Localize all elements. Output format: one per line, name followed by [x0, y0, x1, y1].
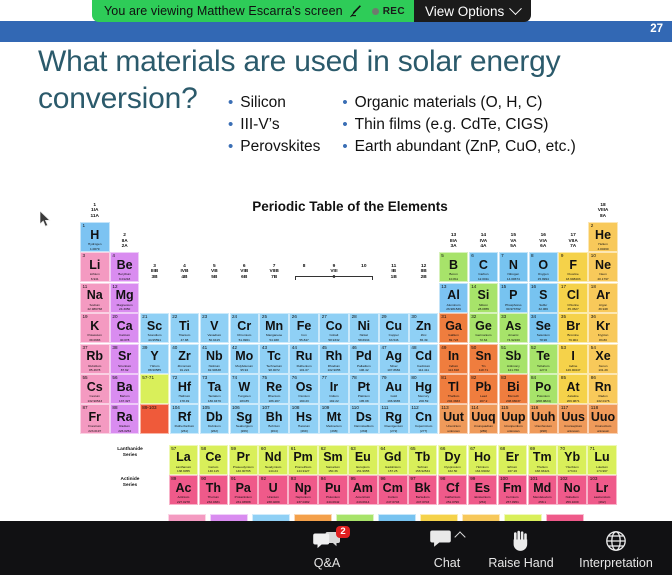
element-mass: 24.3050 [111, 307, 139, 311]
element-mass: 78.96 [530, 338, 558, 342]
element-mass: 39.948 [589, 307, 617, 311]
element-cell: 59PrPraseodymium140.90765 [229, 445, 259, 475]
element-symbol: Fe [290, 320, 318, 333]
element-cell: 20CaCalcium40.078 [110, 313, 140, 343]
element-name: Neon [589, 272, 617, 276]
element-symbol: Br [559, 320, 587, 333]
periodic-table-title: Periodic Table of the Elements [80, 199, 620, 214]
element-cell: 32GeGermanium72.64 [469, 313, 499, 343]
screen-share-banner: You are viewing Matthew Escarra's screen… [92, 0, 531, 22]
bullet-item: •Organic materials (O, H, C) [342, 94, 575, 112]
element-symbol: Cf [439, 482, 467, 495]
element-symbol: Si [470, 289, 498, 302]
element-cell: 76OsOsmium190.23 [289, 374, 319, 404]
element-mass: 47.88 [171, 338, 199, 342]
element-name: Americium [349, 495, 377, 499]
element-symbol: Er [499, 451, 527, 464]
element-name: Mendelevium [529, 495, 557, 499]
element-mass: 102.9055 [320, 368, 348, 372]
element-mass: 243.0614 [349, 500, 377, 504]
element-mass: 65.39 [410, 338, 438, 342]
element-symbol: Ti [171, 320, 199, 333]
element-cell: 22TiTitanium47.88 [170, 313, 200, 343]
element-cell: 111RgRoentgenium[272] [379, 404, 409, 434]
element-symbol: Pa [230, 482, 258, 495]
element-cell: 11NaSodium22.989768 [80, 283, 110, 313]
element-cell: 29CuCopper63.546 [379, 313, 409, 343]
element-name: Rubidium [81, 364, 109, 368]
element-name: Thallium [440, 394, 468, 398]
element-cell: 30ZnZinc65.39 [409, 313, 439, 343]
element-cell: 54XeXenon131.29 [588, 344, 618, 374]
element-name: Ununquadium [470, 424, 498, 428]
element-mass: 26.981539 [440, 307, 468, 311]
series-label: LanthanideSeries [104, 447, 156, 459]
element-cell: 74WTungsten183.85 [230, 374, 260, 404]
element-symbol: I [559, 350, 587, 363]
element-symbol: Rh [320, 350, 348, 363]
bullet-item: •III-V’s [228, 116, 320, 134]
element-symbol: Pm [289, 451, 317, 464]
element-symbol: Cu [380, 320, 408, 333]
element-symbol: No [558, 482, 586, 495]
element-cell: 89AcActinium227.0278 [169, 475, 199, 505]
element-name: Tin [470, 364, 498, 368]
element-name: Tellurium [530, 364, 558, 368]
element-name: Ununtrium [440, 424, 468, 428]
bullet-item: •Earth abundant (ZnP, CuO, etc.) [342, 138, 575, 156]
element-cell: 67HoHolmium164.93032 [468, 445, 498, 475]
element-symbol: U [259, 482, 287, 495]
element-mass: 247.0703 [409, 500, 437, 504]
element-name: Lutetium [588, 465, 616, 469]
element-mass: 132.90543 [81, 399, 109, 403]
element-name: Carbon [470, 272, 498, 276]
bullet-dot-icon: • [342, 139, 347, 154]
slide-bullet-columns: •Silicon•III-V’s•Perovskites •Organic ma… [228, 94, 576, 156]
element-name: Californium [439, 495, 467, 499]
element-cell: 6CCarbon12.0011 [469, 252, 499, 282]
element-name: Cobalt [320, 333, 348, 337]
toolbar-label-raise-hand: Raise Hand [488, 556, 553, 570]
element-cell: 31GaGallium69.723 [439, 313, 469, 343]
group-header: 15VA5A [499, 233, 529, 249]
element-mass: 44.95591 [141, 338, 169, 342]
element-name: Zirconium [171, 364, 199, 368]
element-mass: [254] [469, 500, 497, 504]
element-name: Copernicium [410, 424, 438, 428]
element-mass: 140.115 [200, 469, 228, 473]
element-cell: 1HHydrogen1.0079 [80, 222, 110, 252]
element-mass: 118.71 [470, 368, 498, 372]
toolbar-button-interpretation[interactable]: Interpretation [564, 527, 668, 570]
element-mass: 138.9055 [170, 469, 198, 473]
element-cell: 12MgMagnesium24.3050 [110, 283, 140, 313]
qa-unread-badge: 2 [336, 526, 350, 538]
element-symbol: Cm [379, 482, 407, 495]
element-mass: 157.25 [379, 469, 407, 473]
element-symbol: Sr [111, 350, 139, 363]
element-cell: 51SbAntimony121.760 [499, 344, 529, 374]
element-cell: 101MdMendelevium258.1 [528, 475, 558, 505]
element-mass: 209.9871 [559, 399, 587, 403]
element-mass: 231.03588 [230, 500, 258, 504]
element-name: Hafnium [171, 394, 199, 398]
element-symbol: Pt [350, 381, 378, 394]
bullet-dot-icon: • [342, 95, 347, 110]
element-name: Radon [589, 394, 617, 398]
element-cell: 64GdGadolinium157.25 [378, 445, 408, 475]
element-name: Radium [111, 424, 139, 428]
element-mass: 196.9665 [380, 399, 408, 403]
element-name: Bromine [559, 333, 587, 337]
element-symbol: Lr [588, 482, 616, 495]
element-name: Krypton [589, 333, 617, 337]
element-name: Dysprosium [439, 465, 467, 469]
element-name: Calcium [111, 333, 139, 337]
element-cell: 49InIndium114.818 [439, 344, 469, 374]
element-mass: 106.42 [350, 368, 378, 372]
element-name: Helium [589, 242, 617, 246]
bullet-text: Thin films (e.g. CdTe, CIGS) [355, 116, 549, 134]
element-name: Neptunium [289, 495, 317, 499]
element-symbol: Te [530, 350, 558, 363]
element-mass: 85.4678 [81, 368, 109, 372]
element-name: Lead [470, 394, 498, 398]
element-cell: 34SeSelenium78.96 [529, 313, 559, 343]
element-cell: 91PaProtactinium231.03588 [229, 475, 259, 505]
toolbar-button-qa[interactable]: 2 Q&A [296, 527, 358, 570]
element-cell: 106SgSeaborgium[266] [230, 404, 260, 434]
element-cell: 61PmPromethium144.9127 [288, 445, 318, 475]
element-number: 89-103 [142, 405, 156, 411]
element-cell: 41NbNiobium92.90638 [200, 344, 230, 374]
element-symbol: S [530, 289, 558, 302]
element-mass: unknown [440, 429, 468, 433]
element-name: Rutherfordium [171, 424, 199, 428]
element-symbol: As [500, 320, 528, 333]
element-symbol: B [440, 259, 468, 272]
element-mass: 178.49 [171, 399, 199, 403]
element-cell: 39YYttrium88.90585 [140, 344, 170, 374]
element-name: Nickel [350, 333, 378, 337]
bullet-text: Silicon [240, 94, 286, 112]
raise-hand-icon [511, 529, 531, 553]
element-name: Sulfur [530, 303, 558, 307]
element-cell: 65TbTerbium158.92534 [408, 445, 438, 475]
element-cell: 116UuhUnunhexium[298] [529, 404, 559, 434]
element-symbol: Ar [589, 289, 617, 302]
element-symbol: V [201, 320, 229, 333]
element-symbol: Bk [409, 482, 437, 495]
element-name: Nitrogen [500, 272, 528, 276]
element-cell: 117UusUnunseptiumunknown [558, 404, 588, 434]
element-mass: 83.80 [589, 338, 617, 342]
element-cell: 109MtMeitnerium[268] [319, 404, 349, 434]
element-mass: 12.0011 [470, 277, 498, 281]
element-symbol: Xe [589, 350, 617, 363]
element-symbol: Ag [380, 350, 408, 363]
bullet-column-right: •Organic materials (O, H, C)•Thin films … [342, 94, 575, 156]
bullet-dot-icon: • [228, 95, 233, 110]
element-symbol: O [530, 259, 558, 272]
element-mass: 58.6934 [350, 338, 378, 342]
element-cell: 52TeTellurium127.6 [529, 344, 559, 374]
element-mass: 1.0079 [81, 247, 109, 251]
element-mass: 151.9655 [349, 469, 377, 473]
annotate-pencil-icon[interactable] [349, 4, 362, 18]
element-symbol: F [559, 259, 587, 272]
element-symbol: Ge [470, 320, 498, 333]
element-name: Manganese [260, 333, 288, 337]
element-name: Silver [380, 364, 408, 368]
element-name: Magnesium [111, 303, 139, 307]
element-symbol: K [81, 320, 109, 333]
element-symbol: C [470, 259, 498, 272]
element-mass: [272] [380, 429, 408, 433]
element-symbol: Pr [230, 451, 258, 464]
element-cell: 16SSulfur32.066 [529, 283, 559, 313]
element-symbol: Ne [589, 259, 617, 272]
element-cell: 15PPhosphorus30.973762 [499, 283, 529, 313]
element-cell: 66DyDysprosium162.50 [438, 445, 468, 475]
element-cell: 24CrChromium51.9961 [230, 313, 260, 343]
element-name: Protactinium [230, 495, 258, 499]
element-name: Niobium [201, 364, 229, 368]
element-mass: 20.1797 [589, 277, 617, 281]
sharing-status: You are viewing Matthew Escarra's screen… [92, 0, 414, 22]
element-mass: 226.0254 [111, 429, 139, 433]
element-name: Strontium [111, 364, 139, 368]
element-cell: 104RfRutherfordium[261] [170, 404, 200, 434]
element-mass: 162.50 [439, 469, 467, 473]
element-name: Lanthanum [170, 465, 198, 469]
element-mass: 51.9961 [231, 338, 259, 342]
element-name: Ytterbium [558, 465, 586, 469]
element-mass: [289] [470, 429, 498, 433]
element-symbol: At [559, 381, 587, 394]
group-header: 11IA11A [80, 203, 110, 219]
element-cell: 23VVanadium50.9415 [200, 313, 230, 343]
element-mass: 247.0703 [379, 500, 407, 504]
element-symbol: La [170, 451, 198, 464]
element-symbol: Cd [410, 350, 438, 363]
element-name: Dubnium [201, 424, 229, 428]
element-mass: 167.26 [499, 469, 527, 473]
element-name: Potassium [81, 333, 109, 337]
element-name: Fluorine [559, 272, 587, 276]
element-name: Aluminum [440, 303, 468, 307]
element-cell: 9FFluorine18.998403 [558, 252, 588, 282]
element-cell: 43TcTechnetium98.9072 [259, 344, 289, 374]
element-symbol: Ru [290, 350, 318, 363]
element-cell: 48CdCadmium112.411 [409, 344, 439, 374]
element-cell: 94PuPlutonium244.0642 [318, 475, 348, 505]
element-mass: 186.207 [260, 399, 288, 403]
element-mass: 15.9994 [530, 277, 558, 281]
element-cell: 97BkBerkelium247.0703 [408, 475, 438, 505]
element-symbol: Sn [470, 350, 498, 363]
element-mass: 22.989768 [81, 307, 109, 311]
mouse-cursor-icon [40, 211, 52, 228]
element-name: Roentgenium [380, 424, 408, 428]
element-name: Meitnerium [320, 424, 348, 428]
element-cell: 110DsDarmstadtium[269] [349, 404, 379, 434]
element-symbol: Au [380, 381, 408, 394]
element-cell: 17ClChlorine35.4527 [558, 283, 588, 313]
element-symbol: Hs [290, 411, 318, 424]
element-cell: 93NpNeptunium237.0482 [288, 475, 318, 505]
element-name: Palladium [350, 364, 378, 368]
element-cell: 107BhBohrium[264] [259, 404, 289, 434]
chat-bubble-icon [430, 529, 451, 553]
element-mass: [269] [350, 429, 378, 433]
chat-icon-row [430, 529, 464, 553]
element-symbol: Re [260, 381, 288, 394]
element-symbol: Nb [201, 350, 229, 363]
element-name: Copper [380, 333, 408, 337]
slide-page-number: 27 [650, 23, 663, 35]
element-mass: 91.224 [171, 368, 199, 372]
view-options-button[interactable]: View Options [414, 0, 531, 22]
element-mass: 54.938 [260, 338, 288, 342]
sharing-status-label: You are viewing Matthew Escarra's screen [104, 4, 343, 18]
element-name: Ununpentium [500, 424, 528, 428]
element-mass: [261] [171, 429, 199, 433]
element-symbol: Ni [350, 320, 378, 333]
group-header: 11IB1B [379, 264, 409, 280]
element-mass: 227.0278 [170, 500, 198, 504]
element-mass: 30.973762 [500, 307, 528, 311]
element-cell: 36KrKrypton83.80 [588, 313, 618, 343]
element-cell: 92UUranium238.0289 [258, 475, 288, 505]
qa-chat-bubbles-icon: 2 [313, 529, 341, 553]
element-symbol: Eu [349, 451, 377, 464]
element-name: Terbium [409, 465, 437, 469]
group-header: 17VIIA7A [558, 233, 588, 249]
element-cell: 10NeNeon20.1797 [588, 252, 618, 282]
element-cell: 69TmThulium168.93421 [528, 445, 558, 475]
element-symbol: Am [349, 482, 377, 495]
element-cell: 25MnManganese54.938 [259, 313, 289, 343]
element-cell: 81TlThallium204.3833 [439, 374, 469, 404]
element-name: Lithium [81, 272, 109, 276]
element-name: Sodium [81, 303, 109, 307]
element-cell: 88RaRadium226.0254 [110, 404, 140, 434]
element-cell: 42MoMolybdenum95.94 [230, 344, 260, 374]
recording-dot-icon [372, 8, 379, 15]
element-name: Technetium [260, 364, 288, 368]
zoom-bottom-toolbar: 2 Q&A Chat [0, 521, 672, 575]
group-header: 4IVB4B [170, 264, 200, 280]
element-mass: 101.07 [290, 368, 318, 372]
slide-header-bar [0, 21, 672, 42]
element-symbol: N [500, 259, 528, 272]
element-symbol: Cn [410, 411, 438, 424]
element-cell: 62SmSamarium150.36 [318, 445, 348, 475]
element-cell: 115UupUnunpentiumunknown [499, 404, 529, 434]
element-name: Mercury [410, 394, 438, 398]
element-cell: 50SnTin118.71 [469, 344, 499, 374]
element-name: Scandium [141, 333, 169, 337]
element-cell: 45RhRhodium102.9055 [319, 344, 349, 374]
element-mass: 168.93421 [529, 469, 557, 473]
element-name: Nobelium [558, 495, 586, 499]
element-name: Berkelium [409, 495, 437, 499]
presentation-slide: 27 What materials are used in solar ener… [0, 0, 672, 521]
caret-up-icon[interactable] [454, 531, 465, 542]
element-symbol: Np [289, 482, 317, 495]
element-symbol: Uut [440, 411, 468, 424]
element-cell: 75ReRhenium186.207 [259, 374, 289, 404]
element-cell: 86RnRadon222.0176 [588, 374, 618, 404]
element-mass: 200.59 [410, 399, 438, 403]
toolbar-button-chat[interactable]: Chat [416, 527, 478, 570]
element-name: Platinum [350, 394, 378, 398]
element-cell: 99EsEinsteinium[254] [468, 475, 498, 505]
element-cell: 71LuLutetium174.967 [587, 445, 617, 475]
element-symbol: Mo [231, 350, 259, 363]
element-symbol: In [440, 350, 468, 363]
globe-icon [605, 529, 627, 553]
toolbar-label-interpretation: Interpretation [579, 556, 653, 570]
toolbar-items: 2 Q&A Chat [296, 527, 668, 570]
element-symbol: Ra [111, 411, 139, 424]
element-name: Selenium [530, 333, 558, 337]
toolbar-button-raise-hand[interactable]: Raise Hand [478, 527, 564, 570]
element-mass: 18.998403 [559, 277, 587, 281]
element-mass: 232.0381 [200, 500, 228, 504]
recording-indicator: REC [372, 6, 405, 17]
group-header: 16VIA6A [529, 233, 559, 249]
element-symbol: Lu [588, 451, 616, 464]
element-symbol: Ho [469, 451, 497, 464]
element-mass: 144.9127 [289, 469, 317, 473]
element-symbol: Li [81, 259, 109, 272]
element-mass: 63.546 [380, 338, 408, 342]
element-name: Hydrogen [81, 242, 109, 246]
bullet-column-left: •Silicon•III-V’s•Perovskites [228, 94, 320, 156]
element-name: Gallium [440, 333, 468, 337]
chevron-down-icon [509, 2, 522, 15]
element-symbol: Uuh [530, 411, 558, 424]
element-cell: 18ArArgon39.948 [588, 283, 618, 313]
element-cell: 95AmAmericium243.0614 [348, 475, 378, 505]
element-mass: 164.93032 [469, 469, 497, 473]
element-symbol: Co [320, 320, 348, 333]
element-cell: 78PtPlatinum195.08 [349, 374, 379, 404]
element-symbol: Pd [350, 350, 378, 363]
element-mass: 87.62 [111, 368, 139, 372]
element-symbol: Al [440, 289, 468, 302]
element-name: Iron [290, 333, 318, 337]
element-symbol: Bi [500, 381, 528, 394]
element-name: Cerium [200, 465, 228, 469]
element-cell: 7NNitrogen14.00674 [499, 252, 529, 282]
element-symbol: Ac [170, 482, 198, 495]
element-number: 57-71 [142, 375, 154, 381]
element-cell: 100FmFermium257.0951 [498, 475, 528, 505]
element-mass: 238.0289 [259, 500, 287, 504]
element-symbol: Sb [500, 350, 528, 363]
element-name: Gold [380, 394, 408, 398]
element-cell: 85AtAstatine209.9871 [558, 374, 588, 404]
element-name: Bismuth [500, 394, 528, 398]
bullet-text: Earth abundant (ZnP, CuO, etc.) [355, 138, 576, 156]
element-name: Einsteinium [469, 495, 497, 499]
element-name: Barium [111, 394, 139, 398]
element-symbol: Gd [379, 451, 407, 464]
